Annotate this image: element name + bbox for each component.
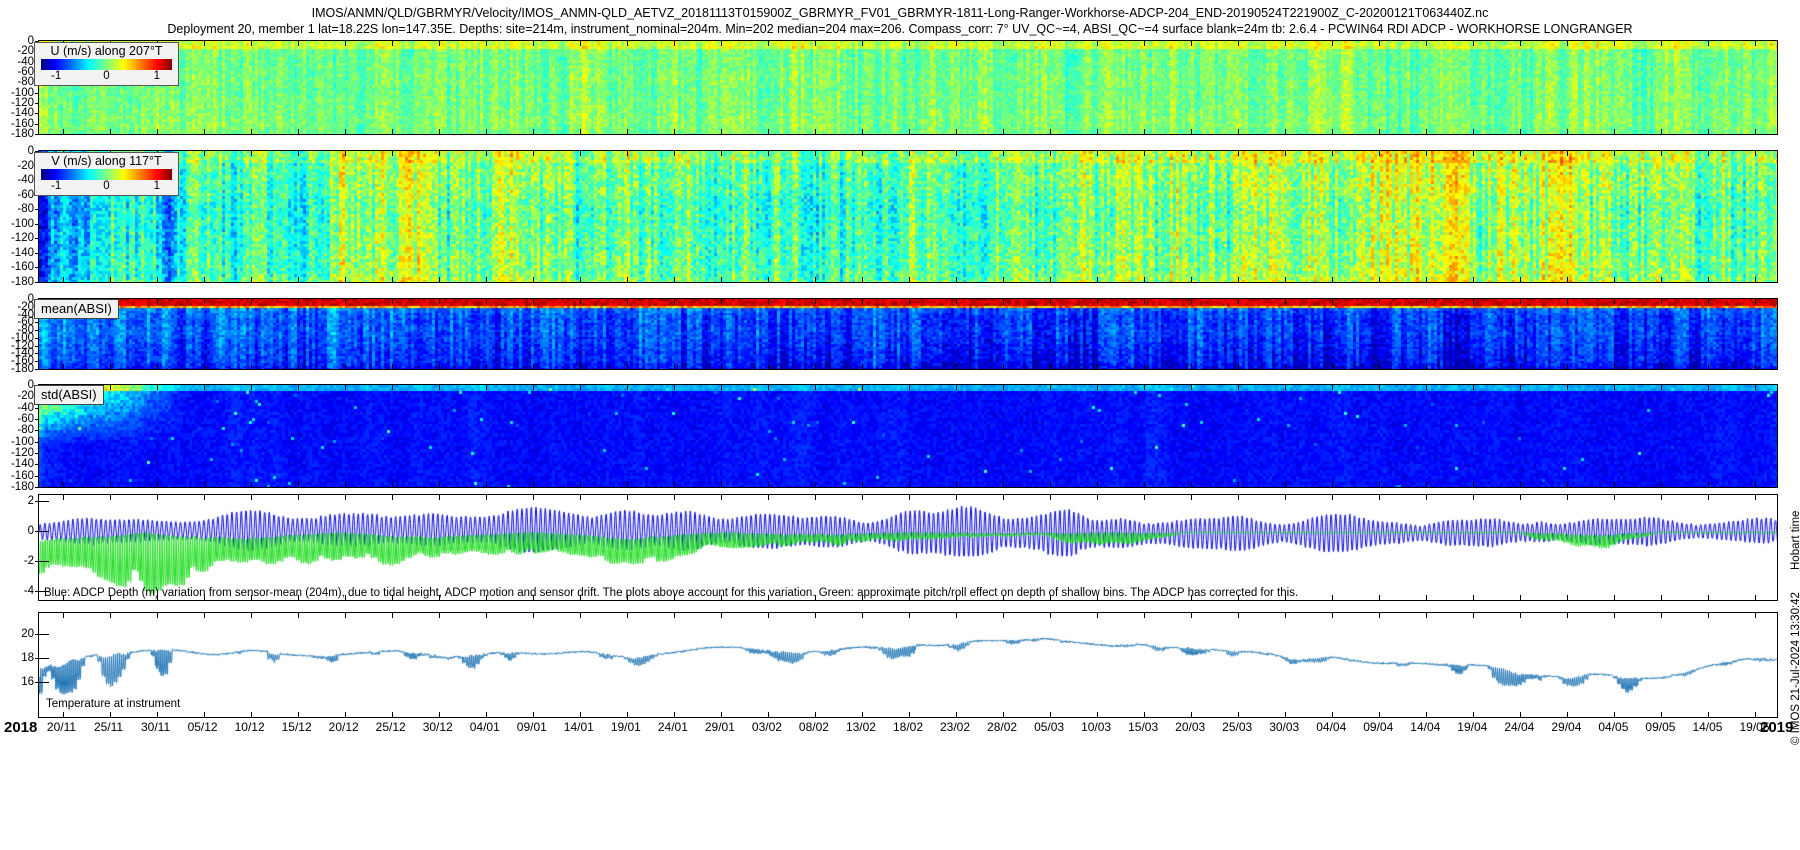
- x-tick-mark: [392, 299, 393, 304]
- x-tick-label: 23/02: [940, 720, 970, 734]
- copyright-label: © IMOS 21-Jul-2024 13:30:42: [1790, 592, 1800, 745]
- x-tick-mark: [1520, 613, 1521, 618]
- x-tick-mark: [1708, 482, 1709, 487]
- x-tick-mark: [674, 712, 675, 717]
- x-tick-mark: [1238, 151, 1239, 156]
- x-tick-mark: [345, 712, 346, 717]
- x-tick-mark: [674, 364, 675, 369]
- x-tick-mark: [251, 277, 252, 282]
- x-tick-mark: [1238, 299, 1239, 304]
- x-tick-mark: [1332, 613, 1333, 618]
- x-tick-mark: [1755, 482, 1756, 487]
- x-tick-label: 29/01: [705, 720, 735, 734]
- x-tick-mark: [627, 129, 628, 134]
- x-tick-mark: [1285, 129, 1286, 134]
- x-tick-mark: [1191, 613, 1192, 618]
- colorbar-tick-label: 1: [154, 180, 160, 192]
- x-tick-mark: [392, 385, 393, 390]
- x-tick-mark: [768, 129, 769, 134]
- x-tick-mark: [956, 613, 957, 618]
- x-tick-mark: [580, 151, 581, 156]
- y-tick-label: -60: [0, 414, 34, 424]
- x-tick-mark: [580, 613, 581, 618]
- caption-depth-variation: Blue: ADCP Depth (m) variation from sens…: [44, 587, 1298, 599]
- x-tick-mark: [1003, 299, 1004, 304]
- x-tick-mark: [815, 299, 816, 304]
- x-tick-mark: [1614, 482, 1615, 487]
- x-tick-mark: [392, 495, 393, 500]
- x-tick-mark: [580, 364, 581, 369]
- x-tick-mark: [815, 151, 816, 156]
- x-tick-mark: [1520, 595, 1521, 600]
- x-tick-mark: [157, 712, 158, 717]
- x-tick-mark: [768, 364, 769, 369]
- x-tick-mark: [909, 129, 910, 134]
- x-tick-mark: [815, 364, 816, 369]
- x-tick-mark: [862, 495, 863, 500]
- x-tick-mark: [1191, 364, 1192, 369]
- y-tick-label: -180: [0, 129, 34, 139]
- x-tick-mark: [439, 712, 440, 717]
- x-tick-label: 13/02: [846, 720, 876, 734]
- x-tick-mark: [1379, 129, 1380, 134]
- x-tick-mark: [909, 151, 910, 156]
- x-tick-label: 09/05: [1645, 720, 1675, 734]
- x-tick-mark: [721, 277, 722, 282]
- x-tick-mark: [1755, 495, 1756, 500]
- x-tick-mark: [1520, 129, 1521, 134]
- y-tick-label: 0: [0, 380, 34, 390]
- x-tick-label: 04/01: [470, 720, 500, 734]
- y-tick-label: -80: [0, 325, 34, 335]
- x-tick-label: 29/04: [1551, 720, 1581, 734]
- x-tick-mark: [1097, 364, 1098, 369]
- x-tick-mark: [1614, 595, 1615, 600]
- y-tick-label: 20: [0, 629, 34, 639]
- x-tick-mark: [768, 151, 769, 156]
- x-tick-mark: [1332, 277, 1333, 282]
- x-tick-mark: [1332, 595, 1333, 600]
- x-tick-mark: [1426, 277, 1427, 282]
- x-tick-mark: [815, 712, 816, 717]
- y-tick-label: 16: [0, 677, 34, 687]
- x-tick-mark: [1050, 495, 1051, 500]
- x-tick-mark: [721, 151, 722, 156]
- x-tick-mark: [1426, 41, 1427, 46]
- x-tick-mark: [251, 364, 252, 369]
- x-tick-mark: [1661, 613, 1662, 618]
- x-tick-mark: [909, 613, 910, 618]
- x-tick-mark: [909, 299, 910, 304]
- panel-mean-absi: [38, 298, 1778, 370]
- x-tick-mark: [1567, 151, 1568, 156]
- x-tick-mark: [345, 482, 346, 487]
- x-tick-mark: [956, 151, 957, 156]
- x-tick-mark: [1191, 41, 1192, 46]
- x-tick-mark: [1473, 595, 1474, 600]
- y-tick-label: 0: [0, 36, 34, 46]
- x-tick-mark: [1050, 151, 1051, 156]
- x-tick-mark: [1567, 595, 1568, 600]
- x-tick-mark: [1661, 482, 1662, 487]
- x-tick-mark: [1755, 277, 1756, 282]
- x-tick-mark: [1144, 712, 1145, 717]
- x-tick-mark: [1520, 277, 1521, 282]
- x-tick-mark: [862, 151, 863, 156]
- x-tick-mark: [392, 364, 393, 369]
- u-velocity-heatmap: [39, 41, 1778, 135]
- x-tick-mark: [533, 151, 534, 156]
- x-tick-mark: [392, 129, 393, 134]
- x-tick-mark: [1426, 712, 1427, 717]
- x-tick-mark: [862, 613, 863, 618]
- x-tick-mark: [580, 482, 581, 487]
- x-tick-mark: [1708, 364, 1709, 369]
- x-tick-mark: [1050, 129, 1051, 134]
- v-velocity-heatmap: [39, 151, 1778, 283]
- x-tick-mark: [486, 299, 487, 304]
- x-tick-mark: [1755, 299, 1756, 304]
- y-tick-label: -20: [0, 391, 34, 401]
- x-tick-mark: [439, 495, 440, 500]
- x-tick-mark: [1332, 299, 1333, 304]
- x-tick-mark: [1661, 364, 1662, 369]
- y-tick-label: -20: [0, 46, 34, 56]
- x-tick-mark: [815, 482, 816, 487]
- x-tick-mark: [1285, 712, 1286, 717]
- x-tick-mark: [1144, 299, 1145, 304]
- x-tick-mark: [1144, 613, 1145, 618]
- x-tick-mark: [1614, 712, 1615, 717]
- y-tick-label: -160: [0, 119, 34, 129]
- x-tick-mark: [1661, 385, 1662, 390]
- x-tick-mark: [1238, 129, 1239, 134]
- x-tick-mark: [486, 364, 487, 369]
- x-tick-label: 04/04: [1316, 720, 1346, 734]
- x-tick-mark: [1379, 613, 1380, 618]
- x-tick-mark: [486, 712, 487, 717]
- x-tick-mark: [298, 41, 299, 46]
- x-tick-mark: [1755, 595, 1756, 600]
- x-tick-mark: [1332, 129, 1333, 134]
- x-tick-mark: [674, 482, 675, 487]
- x-tick-label: 09/04: [1363, 720, 1393, 734]
- x-tick-mark: [1426, 482, 1427, 487]
- colorbar-u: U (m/s) along 207°T -101: [34, 42, 179, 86]
- x-tick-mark: [1191, 495, 1192, 500]
- x-tick-mark: [1285, 495, 1286, 500]
- x-tick-mark: [110, 385, 111, 390]
- x-tick-mark: [815, 129, 816, 134]
- x-tick-mark: [1144, 364, 1145, 369]
- colorbar-u-title: U (m/s) along 207°T: [39, 44, 174, 58]
- x-tick-mark: [1144, 151, 1145, 156]
- x-tick-mark: [1285, 613, 1286, 618]
- x-tick-mark: [204, 151, 205, 156]
- x-tick-mark: [721, 385, 722, 390]
- panel-temperature: [38, 612, 1778, 718]
- colorbar-tick-label: -1: [51, 180, 61, 192]
- x-tick-mark: [1379, 41, 1380, 46]
- x-tick-mark: [533, 277, 534, 282]
- y-tick-label: -140: [0, 348, 34, 358]
- x-tick-mark: [439, 482, 440, 487]
- x-tick-mark: [1755, 364, 1756, 369]
- y-tick-label: -160: [0, 356, 34, 366]
- x-tick-mark: [1097, 613, 1098, 618]
- x-tick-mark: [1426, 364, 1427, 369]
- x-tick-mark: [768, 495, 769, 500]
- x-tick-mark: [251, 482, 252, 487]
- x-tick-label: 03/02: [752, 720, 782, 734]
- x-tick-mark: [486, 277, 487, 282]
- x-tick-mark: [674, 277, 675, 282]
- y-tick-label: -4: [0, 586, 34, 596]
- x-tick-mark: [486, 613, 487, 618]
- x-tick-mark: [1144, 41, 1145, 46]
- x-tick-mark: [1755, 613, 1756, 618]
- x-tick-label: 25/03: [1222, 720, 1252, 734]
- x-tick-mark: [1473, 385, 1474, 390]
- x-tick-mark: [1661, 129, 1662, 134]
- x-tick-mark: [721, 495, 722, 500]
- colorbar-tick-label: 0: [103, 70, 109, 82]
- y-tick-label: -120: [0, 233, 34, 243]
- y-tick-label: -180: [0, 277, 34, 287]
- x-tick-mark: [1755, 385, 1756, 390]
- x-tick-mark: [1614, 299, 1615, 304]
- x-tick-mark: [1050, 277, 1051, 282]
- x-tick-mark: [1238, 41, 1239, 46]
- x-tick-mark: [439, 41, 440, 46]
- x-tick-mark: [721, 299, 722, 304]
- x-tick-mark: [204, 613, 205, 618]
- x-tick-mark: [1708, 41, 1709, 46]
- x-tick-mark: [204, 129, 205, 134]
- x-tick-mark: [1097, 151, 1098, 156]
- x-tick-mark: [1473, 299, 1474, 304]
- x-tick-mark: [1708, 151, 1709, 156]
- x-tick-mark: [1567, 364, 1568, 369]
- y-tick-label: -120: [0, 448, 34, 458]
- x-tick-mark: [1426, 595, 1427, 600]
- x-tick-mark: [1191, 299, 1192, 304]
- x-tick-mark: [1614, 364, 1615, 369]
- x-tick-mark: [1755, 712, 1756, 717]
- y-tick-label: -60: [0, 190, 34, 200]
- x-tick-mark: [486, 495, 487, 500]
- y-tick-label: -180: [0, 364, 34, 374]
- x-tick-mark: [1567, 482, 1568, 487]
- x-tick-mark: [721, 482, 722, 487]
- x-tick-mark: [956, 41, 957, 46]
- x-tick-mark: [1708, 712, 1709, 717]
- x-tick-mark: [251, 712, 252, 717]
- x-tick-mark: [1050, 613, 1051, 618]
- x-tick-mark: [298, 364, 299, 369]
- x-tick-mark: [674, 151, 675, 156]
- y-tick-label: -100: [0, 437, 34, 447]
- x-tick-mark: [768, 482, 769, 487]
- x-tick-mark: [251, 41, 252, 46]
- x-tick-mark: [157, 613, 158, 618]
- y-tick-label: -60: [0, 317, 34, 327]
- x-tick-mark: [486, 129, 487, 134]
- x-tick-mark: [1285, 364, 1286, 369]
- x-tick-mark: [1238, 495, 1239, 500]
- x-tick-mark: [580, 495, 581, 500]
- x-tick-label: 24/04: [1504, 720, 1534, 734]
- x-tick-mark: [862, 299, 863, 304]
- x-tick-mark: [1003, 482, 1004, 487]
- x-tick-mark: [1191, 129, 1192, 134]
- x-tick-mark: [1567, 495, 1568, 500]
- x-tick-mark: [815, 277, 816, 282]
- x-tick-mark: [1614, 385, 1615, 390]
- x-tick-mark: [1708, 129, 1709, 134]
- x-tick-mark: [486, 151, 487, 156]
- x-tick-mark: [768, 277, 769, 282]
- x-tick-mark: [1050, 482, 1051, 487]
- x-tick-mark: [392, 712, 393, 717]
- x-tick-mark: [298, 613, 299, 618]
- x-tick-mark: [1426, 385, 1427, 390]
- x-tick-mark: [110, 495, 111, 500]
- y-tick-label: -120: [0, 98, 34, 108]
- x-tick-mark: [1332, 495, 1333, 500]
- x-tick-mark: [251, 299, 252, 304]
- caption-temperature: Temperature at instrument: [46, 698, 180, 710]
- x-tick-mark: [1708, 385, 1709, 390]
- panel-v-velocity: [38, 150, 1778, 283]
- x-axis-dates: 20/1125/1130/1105/1210/1215/1220/1225/12…: [38, 718, 1778, 746]
- x-tick-mark: [580, 299, 581, 304]
- x-tick-mark: [298, 482, 299, 487]
- x-tick-mark: [674, 613, 675, 618]
- x-tick-mark: [298, 129, 299, 134]
- x-tick-mark: [1567, 299, 1568, 304]
- panel-std-absi: [38, 384, 1778, 488]
- x-tick-mark: [157, 277, 158, 282]
- x-tick-mark: [1755, 129, 1756, 134]
- x-tick-mark: [157, 385, 158, 390]
- x-tick-mark: [1755, 41, 1756, 46]
- x-tick-label: 05/03: [1034, 720, 1064, 734]
- x-tick-mark: [580, 277, 581, 282]
- x-tick-mark: [1238, 613, 1239, 618]
- x-tick-label: 15/12: [282, 720, 312, 734]
- x-tick-mark: [1097, 129, 1098, 134]
- x-tick-mark: [345, 129, 346, 134]
- x-tick-mark: [63, 482, 64, 487]
- x-tick-mark: [439, 299, 440, 304]
- x-tick-mark: [1238, 385, 1239, 390]
- x-tick-mark: [110, 482, 111, 487]
- x-tick-mark: [1332, 41, 1333, 46]
- y-tick-label: -160: [0, 262, 34, 272]
- panel-depth-variation: [38, 494, 1778, 601]
- x-tick-mark: [298, 299, 299, 304]
- x-tick-mark: [862, 364, 863, 369]
- y-tick-label: -160: [0, 471, 34, 481]
- x-tick-label: 20/11: [47, 720, 76, 734]
- x-tick-mark: [251, 385, 252, 390]
- x-tick-mark: [1755, 151, 1756, 156]
- x-tick-mark: [862, 385, 863, 390]
- y-tick-label: 0: [0, 526, 34, 536]
- x-tick-mark: [1473, 151, 1474, 156]
- x-tick-mark: [204, 299, 205, 304]
- y-tick-label: 0: [0, 146, 34, 156]
- x-tick-mark: [110, 277, 111, 282]
- x-tick-label: 04/05: [1598, 720, 1628, 734]
- x-tick-mark: [1614, 613, 1615, 618]
- x-tick-mark: [1050, 299, 1051, 304]
- x-tick-mark: [1097, 277, 1098, 282]
- x-tick-mark: [1473, 129, 1474, 134]
- y-tick-label: 18: [0, 653, 34, 663]
- x-tick-mark: [157, 299, 158, 304]
- colorbar-tick-label: 0: [103, 180, 109, 192]
- x-tick-label: 14/04: [1410, 720, 1440, 734]
- colorbar-v-strip: [41, 169, 172, 180]
- x-tick-mark: [1379, 385, 1380, 390]
- x-tick-mark: [533, 613, 534, 618]
- x-tick-mark: [768, 299, 769, 304]
- x-tick-mark: [1708, 495, 1709, 500]
- y-tick-label: -20: [0, 302, 34, 312]
- x-tick-mark: [345, 364, 346, 369]
- x-tick-mark: [1285, 385, 1286, 390]
- x-tick-mark: [110, 129, 111, 134]
- x-tick-mark: [1097, 41, 1098, 46]
- x-tick-mark: [674, 299, 675, 304]
- x-tick-mark: [768, 613, 769, 618]
- x-tick-mark: [1614, 277, 1615, 282]
- x-tick-mark: [110, 613, 111, 618]
- x-tick-mark: [345, 41, 346, 46]
- x-tick-mark: [1144, 129, 1145, 134]
- x-tick-mark: [439, 151, 440, 156]
- y-tick-label: -20: [0, 161, 34, 171]
- x-tick-mark: [1708, 277, 1709, 282]
- x-tick-mark: [1003, 385, 1004, 390]
- x-tick-label: 09/01: [517, 720, 547, 734]
- x-tick-label: 10/03: [1081, 720, 1111, 734]
- y-tick-label: -100: [0, 219, 34, 229]
- x-tick-mark: [439, 277, 440, 282]
- x-tick-mark: [1191, 712, 1192, 717]
- std-absi-heatmap: [39, 385, 1778, 488]
- panel-u-velocity: [38, 40, 1778, 135]
- x-tick-mark: [674, 495, 675, 500]
- x-tick-label: 18/02: [893, 720, 923, 734]
- x-tick-mark: [580, 385, 581, 390]
- x-tick-mark: [110, 364, 111, 369]
- x-tick-mark: [1144, 277, 1145, 282]
- x-tick-mark: [533, 299, 534, 304]
- x-tick-mark: [1614, 151, 1615, 156]
- x-tick-mark: [63, 613, 64, 618]
- x-tick-mark: [1097, 712, 1098, 717]
- x-tick-label: 14/05: [1692, 720, 1722, 734]
- x-tick-mark: [1144, 482, 1145, 487]
- y-tick-label: 2: [0, 496, 34, 506]
- y-tick-label: -40: [0, 175, 34, 185]
- x-tick-mark: [1661, 495, 1662, 500]
- x-tick-mark: [1238, 277, 1239, 282]
- x-tick-mark: [1144, 495, 1145, 500]
